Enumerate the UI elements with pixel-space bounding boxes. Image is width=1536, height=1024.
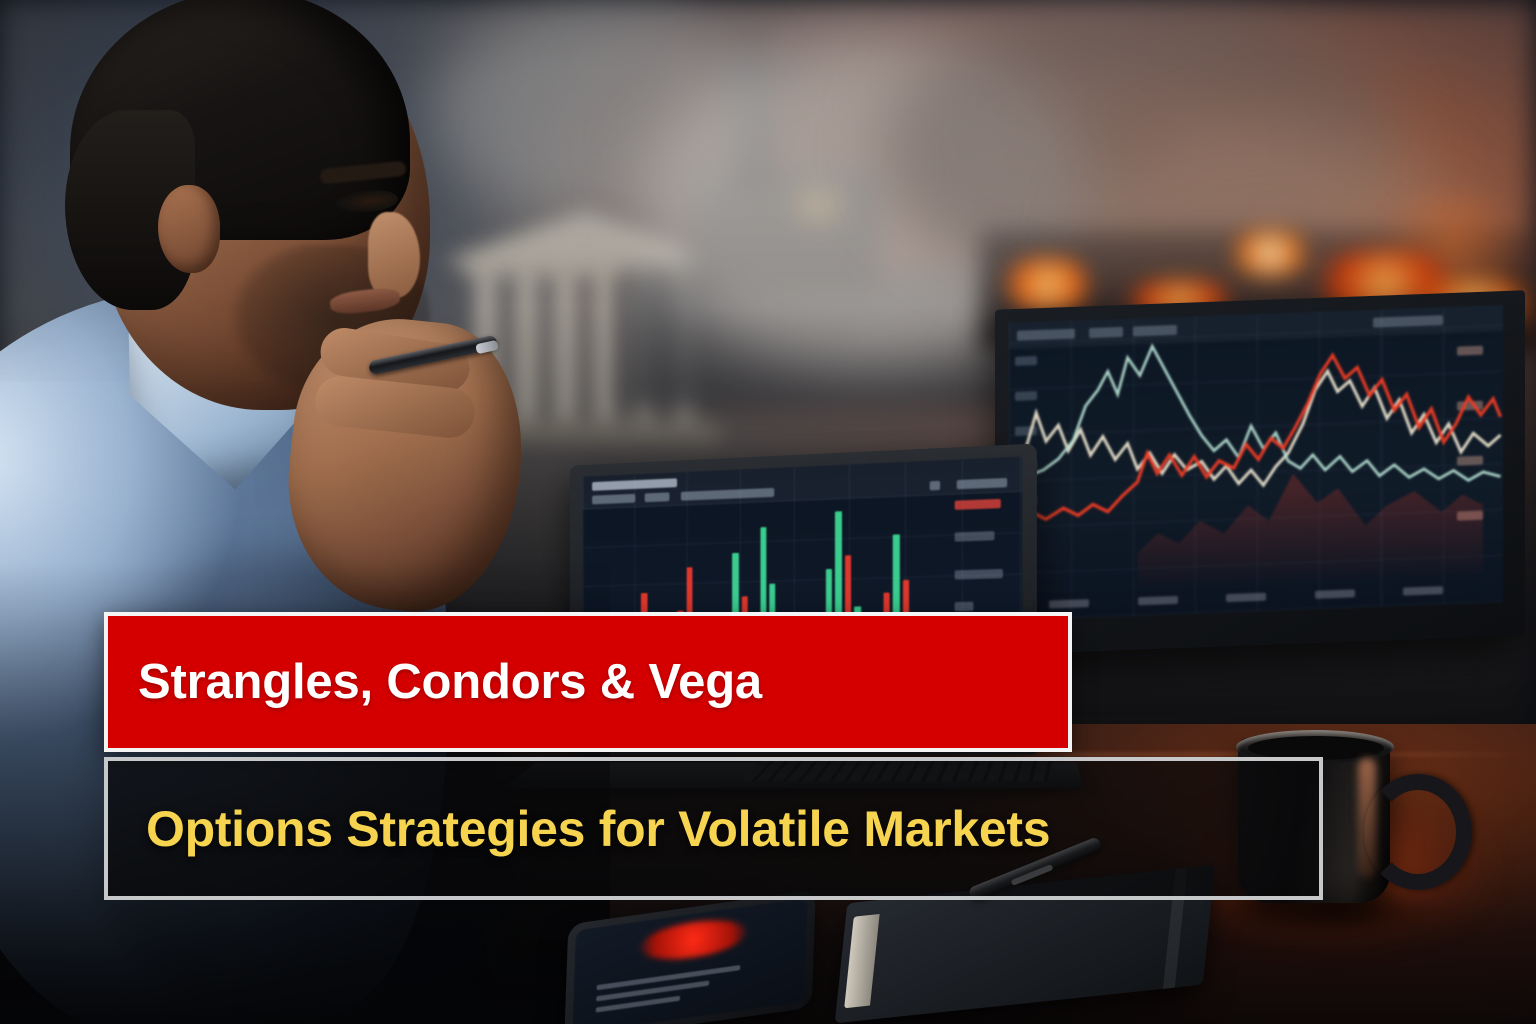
page-subtitle: Options Strategies for Volatile Markets: [108, 804, 1050, 854]
monitor-price-lines: [1009, 305, 1503, 531]
notebook-pages: [844, 914, 879, 1008]
monitor-screen: [1009, 305, 1503, 620]
mug-handle: [1364, 774, 1472, 890]
phone-content-rows: [596, 965, 741, 1019]
page-title: Strangles, Condors & Vega: [108, 658, 762, 707]
title-banner: Strangles, Condors & Vega: [104, 612, 1072, 752]
external-monitor: [995, 300, 1525, 645]
subtitle-banner: Options Strategies for Volatile Markets: [104, 757, 1323, 900]
promo-graphic: Strangles, Condors & Vega Options Strate…: [0, 0, 1536, 1024]
phone-alert-indicator: [639, 915, 747, 965]
